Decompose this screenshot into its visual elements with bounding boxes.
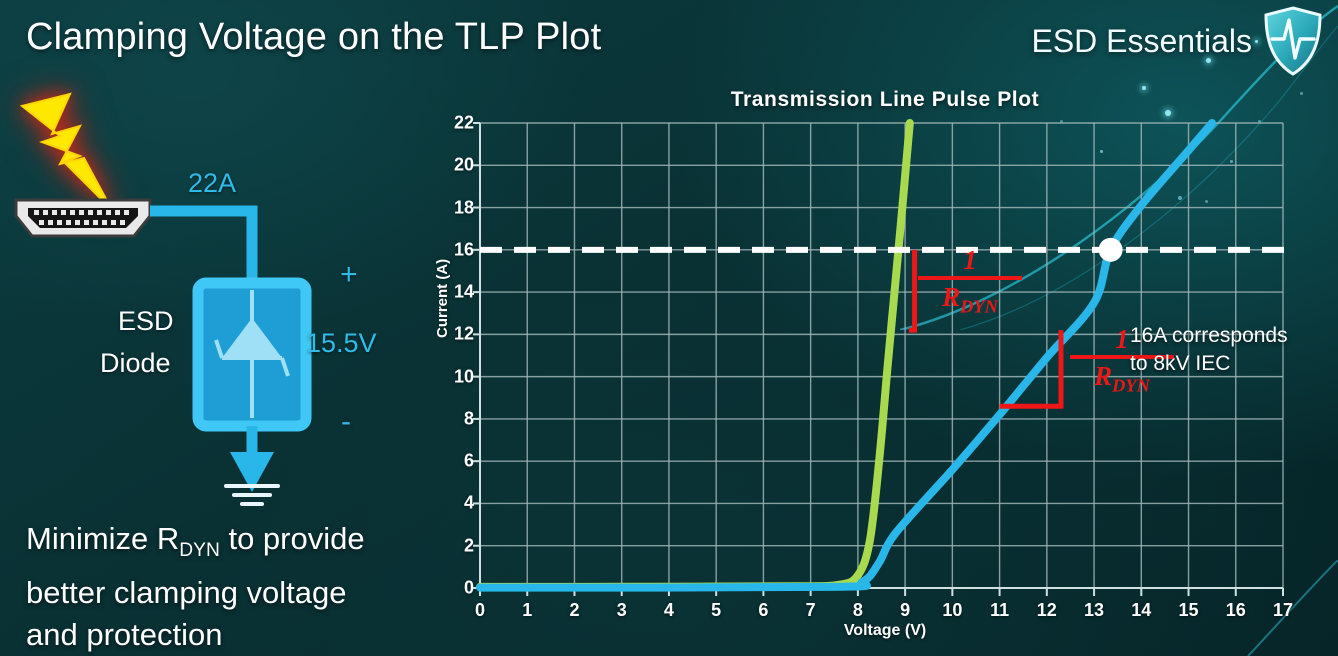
slope-annotation-1-numerator: 1 bbox=[918, 246, 1022, 274]
slope-annotation-1: 1 RDYN bbox=[918, 246, 1022, 321]
iec-callout-line2: to 8kV IEC bbox=[1130, 350, 1335, 378]
polarity-minus-label: - bbox=[341, 405, 351, 439]
fraction-bar bbox=[918, 276, 1022, 280]
bottom-note: Minimize RDYN to provide better clamping… bbox=[26, 518, 436, 656]
device-label-line1: ESD bbox=[118, 306, 174, 337]
device-label-line2: Diode bbox=[100, 348, 171, 379]
brand-title: ESD Essentials bbox=[1031, 23, 1252, 60]
page-title: Clamping Voltage on the TLP Plot bbox=[26, 16, 601, 59]
bottom-note-line1a: Minimize R bbox=[26, 521, 179, 556]
clamping-point-marker bbox=[1099, 238, 1123, 262]
iec-callout: 16A corresponds to 8kV IEC bbox=[1130, 322, 1335, 378]
esd-diode-circuit bbox=[150, 180, 450, 510]
slope-annotation-1-denominator: RDYN bbox=[918, 282, 1022, 321]
bottom-note-line2: better clamping voltage bbox=[26, 575, 347, 610]
current-label: 22A bbox=[188, 168, 236, 199]
brand-lockup: ESD Essentials bbox=[1031, 6, 1324, 76]
tlp-chart: Transmission Line Pulse Plot Current (A)… bbox=[440, 88, 1330, 648]
clamp-voltage-label: 15.5V bbox=[306, 328, 377, 359]
bottom-note-line3: and protection bbox=[26, 617, 222, 652]
bottom-note-line1b: to provide bbox=[220, 521, 365, 556]
polarity-plus-label: + bbox=[340, 258, 358, 292]
slide-root: Clamping Voltage on the TLP Plot ESD Ess… bbox=[0, 0, 1338, 656]
slope-marker-2 bbox=[1000, 330, 1061, 406]
bottom-note-subscript: DYN bbox=[179, 540, 220, 561]
shield-pulse-icon bbox=[1262, 6, 1324, 76]
chart-series-line bbox=[480, 123, 910, 587]
iec-callout-line1: 16A corresponds bbox=[1130, 322, 1335, 350]
slope-marker-1 bbox=[909, 250, 915, 330]
hdmi-connector-icon bbox=[10, 196, 156, 240]
